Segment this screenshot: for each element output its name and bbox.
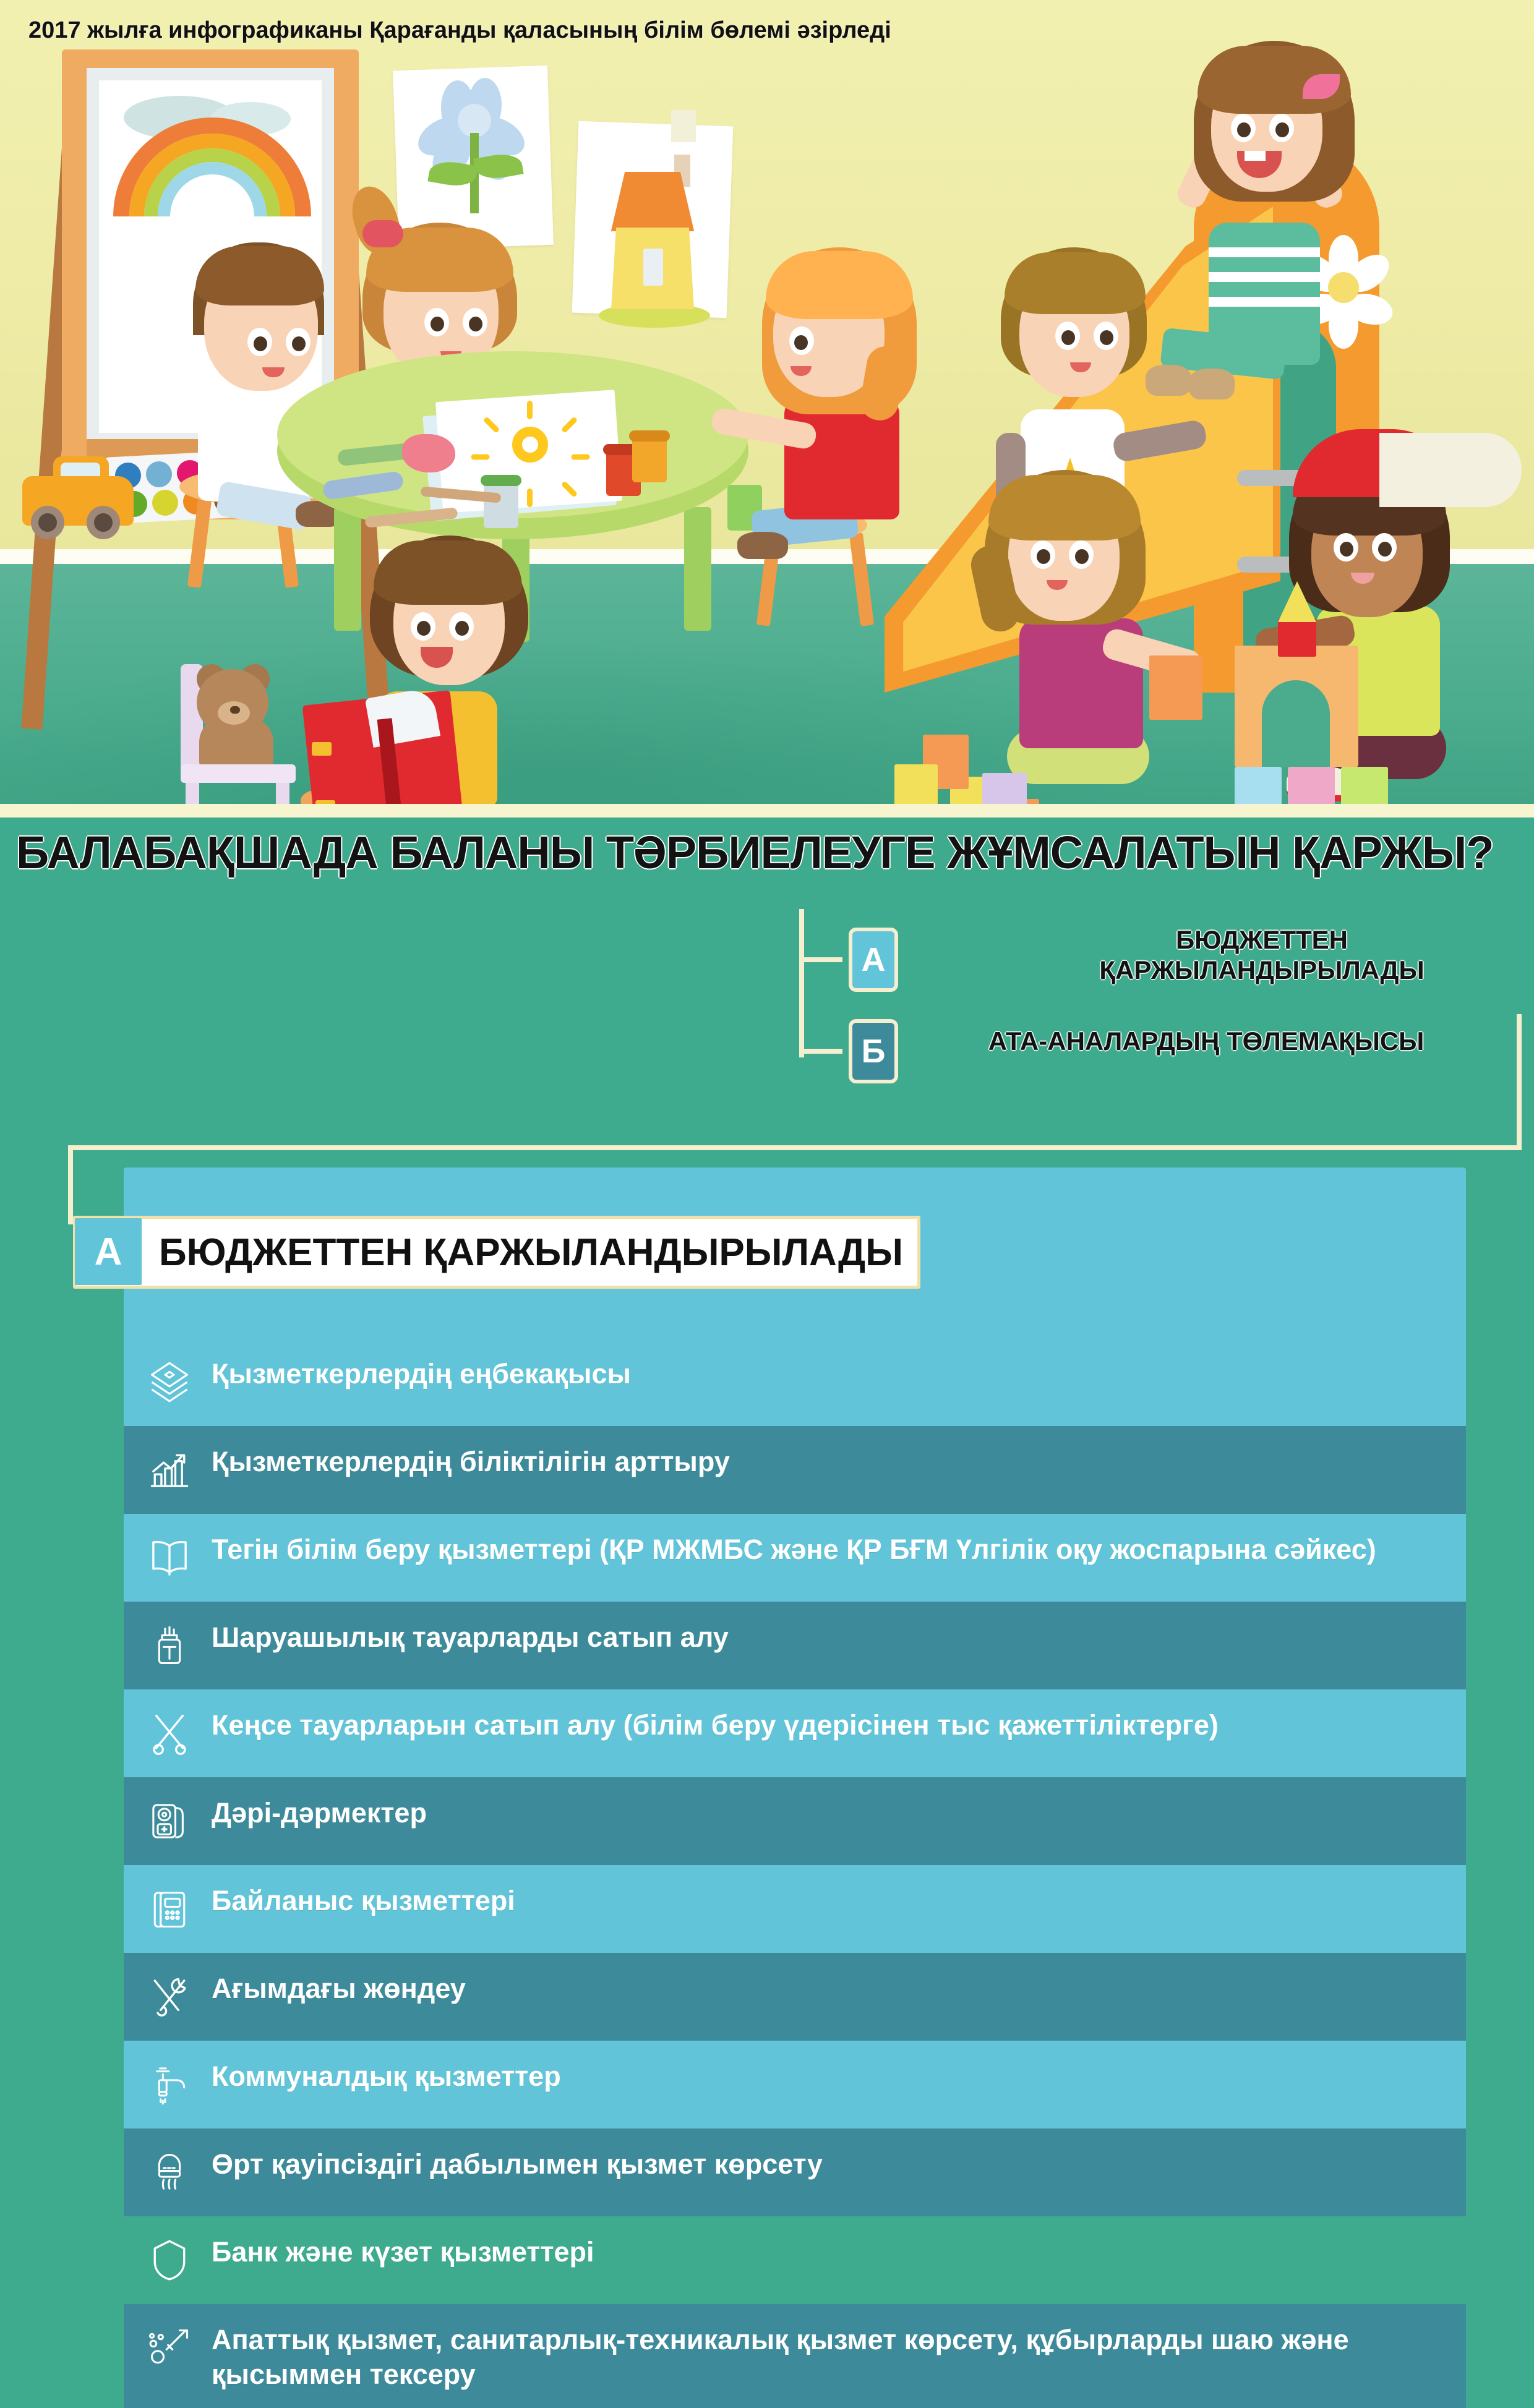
section-a-header: А БЮДЖЕТТЕН ҚАРЖЫЛАНДЫРЫЛАДЫ bbox=[73, 1216, 920, 1289]
pupil bbox=[469, 317, 482, 331]
legend-vertical-line bbox=[799, 909, 804, 1057]
legend-label-b: АТА-АНАЛАРДЫҢ ТӨЛЕМАҚЫСЫ bbox=[928, 1027, 1485, 1057]
section-a-heading: БЮДЖЕТТЕН ҚАРЖЫЛАНДЫРЫЛАДЫ bbox=[142, 1231, 903, 1274]
house-window bbox=[643, 249, 663, 286]
sun-drawing bbox=[512, 427, 548, 463]
list-item[interactable]: Байланыс қызметтері bbox=[124, 1865, 1466, 1953]
pupil bbox=[1037, 549, 1050, 564]
list-item[interactable]: Ағымдағы жөндеу bbox=[124, 1953, 1466, 2041]
clay-blob bbox=[402, 434, 455, 472]
shield-icon bbox=[140, 2232, 199, 2288]
list-item[interactable]: Коммуналдық қызметтер bbox=[124, 2041, 1466, 2128]
teddy-nose bbox=[230, 706, 240, 714]
book-clasp bbox=[312, 742, 332, 756]
hair-fringe bbox=[766, 251, 913, 319]
toy-block bbox=[1235, 767, 1282, 805]
legend-badge-a-letter: А bbox=[862, 941, 886, 979]
paint-jar bbox=[632, 437, 667, 482]
list-item[interactable]: Қызметкерлердің еңбекақысы bbox=[124, 1338, 1466, 1426]
list-item-label: Апаттық қызмет, санитарлық-техникалық қы… bbox=[212, 2320, 1447, 2392]
block-arch-opening bbox=[1262, 680, 1330, 767]
paint-dot bbox=[146, 461, 172, 487]
legend-badge-a[interactable]: А bbox=[849, 928, 898, 992]
pupil bbox=[1237, 122, 1251, 137]
pupil bbox=[431, 317, 444, 331]
shirt-stripe bbox=[1209, 297, 1320, 307]
list-item-label: Шаруашылық тауарларды сатып алу bbox=[212, 1618, 729, 1655]
legend-tick-a bbox=[799, 957, 842, 962]
shoe bbox=[737, 532, 788, 559]
list-item-label: Байланыс қызметтері bbox=[212, 1881, 515, 1918]
paint-dot bbox=[152, 490, 178, 516]
connector-vertical-left bbox=[68, 1145, 73, 1224]
list-item-label: Қызметкерлердің еңбекақысы bbox=[212, 1354, 631, 1391]
list-item[interactable]: Қызметкерлердің біліктілігін арттыру bbox=[124, 1426, 1466, 1514]
teeth bbox=[1245, 151, 1266, 161]
list-item[interactable]: Апаттық қызмет, санитарлық-техникалық қы… bbox=[124, 2304, 1466, 2408]
legend-label-a-line1: БЮДЖЕТТЕН bbox=[1064, 925, 1460, 955]
tools-repair-icon bbox=[140, 1969, 199, 2025]
shirt-stripe bbox=[1209, 272, 1320, 282]
first-aid-icon bbox=[140, 1793, 199, 1849]
list-item-label: Коммуналдық қызметтер bbox=[212, 2057, 561, 2094]
hair-fringe bbox=[1005, 252, 1146, 314]
shirt-stripe bbox=[1209, 247, 1320, 257]
list-item[interactable]: Дәрі-дәрмектер bbox=[124, 1777, 1466, 1865]
list-item[interactable]: Тегін білім беру қызметтері (ҚР МЖМБС жә… bbox=[124, 1514, 1466, 1602]
chair-seat bbox=[181, 764, 296, 783]
toy-block bbox=[1278, 618, 1316, 657]
paint-jar-lid bbox=[629, 430, 670, 442]
cleaning-supplies-icon bbox=[140, 1618, 199, 1673]
toy-block bbox=[1341, 767, 1388, 805]
legend-label-a: БЮДЖЕТТЕН ҚАРЖЫЛАНДЫРЫЛАДЫ bbox=[1064, 925, 1460, 985]
kindergarten-illustration bbox=[0, 0, 1534, 816]
list-item[interactable]: Шаруашылық тауарларды сатып алу bbox=[124, 1602, 1466, 1689]
fire-alarm-icon bbox=[140, 2145, 199, 2200]
section-a-badge-letter: А bbox=[95, 1230, 122, 1274]
pupil bbox=[1100, 330, 1113, 345]
pupil bbox=[254, 336, 267, 351]
section-a-item-list: Қызметкерлердің еңбекақысыҚызметкерлерді… bbox=[124, 1285, 1466, 2408]
title-divider-band bbox=[0, 804, 1534, 818]
daisy-petal bbox=[1329, 302, 1358, 349]
legend-badge-b-letter: Б bbox=[862, 1032, 886, 1070]
list-item-label: Банк және күзет қызметтері bbox=[212, 2232, 594, 2269]
pupil bbox=[455, 621, 469, 636]
cap-brim bbox=[1379, 433, 1522, 507]
water-jar bbox=[484, 482, 518, 528]
rainbow-drawing bbox=[113, 117, 311, 260]
hair-tie bbox=[362, 220, 403, 247]
list-item-label: Қызметкерлердің біліктілігін арттыру bbox=[212, 1442, 730, 1479]
list-item[interactable]: Өрт қауіпсіздігі дабылымен қызмет көрсет… bbox=[124, 2128, 1466, 2216]
connector-horizontal-top bbox=[68, 1145, 1522, 1150]
list-item-label: Кеңсе тауарларын сатып алу (білім беру ү… bbox=[212, 1706, 1219, 1743]
legend-label-a-line2: ҚАРЖЫЛАНДЫРЫЛАДЫ bbox=[1064, 955, 1460, 986]
shoe bbox=[1189, 369, 1235, 399]
daisy-center bbox=[1328, 272, 1359, 303]
page-title: БАЛАБАҚШАДА БАЛАНЫ ТӘРБИЕЛЕУГЕ ЖҰМСАЛАТЫ… bbox=[0, 826, 1494, 879]
flower-center bbox=[458, 104, 491, 137]
sun-ray bbox=[527, 401, 533, 419]
legend-group: А Б БЮДЖЕТТЕН ҚАРЖЫЛАНДЫРЫЛАДЫ АТА-АНАЛА… bbox=[792, 909, 1522, 1076]
pupil bbox=[1340, 542, 1353, 557]
open-book-icon bbox=[140, 1530, 199, 1586]
pupil bbox=[794, 335, 808, 350]
toy-car-wheel bbox=[87, 506, 120, 539]
shoe bbox=[1146, 365, 1191, 396]
pupil bbox=[292, 336, 306, 351]
credit-line: 2017 жылға инфографиканы Қарағанды қалас… bbox=[28, 17, 891, 44]
toy-block bbox=[1288, 767, 1335, 805]
list-item-label: Өрт қауіпсіздігі дабылымен қызмет көрсет… bbox=[212, 2145, 823, 2182]
money-stack-icon bbox=[140, 1354, 199, 1410]
water-jar-lid bbox=[481, 475, 521, 486]
pupil bbox=[1275, 122, 1289, 137]
section-a-badge[interactable]: А bbox=[75, 1218, 142, 1285]
pupil bbox=[1075, 549, 1089, 564]
connector-elbow-right bbox=[1447, 1014, 1522, 1150]
legend-badge-b[interactable]: Б bbox=[849, 1019, 898, 1083]
sun-ray bbox=[471, 455, 490, 460]
table-leg bbox=[684, 507, 711, 631]
list-item-label: Дәрі-дәрмектер bbox=[212, 1793, 427, 1830]
growth-chart-icon bbox=[140, 1442, 199, 1498]
legend-tick-b bbox=[799, 1049, 842, 1054]
paper-tape bbox=[671, 110, 696, 142]
scissors-pen-icon bbox=[140, 1706, 199, 1761]
pupil bbox=[1378, 542, 1392, 557]
sun-ray bbox=[527, 489, 533, 507]
faucet-icon bbox=[140, 2057, 199, 2112]
sun-ray bbox=[572, 455, 590, 460]
toy-block bbox=[1149, 655, 1202, 720]
pupil bbox=[417, 621, 431, 636]
hair-fringe bbox=[374, 540, 522, 605]
list-item[interactable]: Кеңсе тауарларын сатып алу (білім беру ү… bbox=[124, 1689, 1466, 1777]
list-item[interactable]: Банк және күзет қызметтері bbox=[124, 2216, 1466, 2304]
pupil bbox=[1061, 330, 1075, 345]
hair-fringe bbox=[195, 246, 324, 305]
list-item-label: Ағымдағы жөндеу bbox=[212, 1969, 466, 2006]
list-item-label: Тегін білім беру қызметтері (ҚР МЖМБС жә… bbox=[212, 1530, 1376, 1567]
toy-car-wheel bbox=[31, 506, 64, 539]
hair-fringe bbox=[988, 475, 1141, 540]
plumbing-wrench-icon bbox=[140, 2320, 199, 2376]
telephone-icon bbox=[140, 1881, 199, 1937]
main-title-bar: БАЛАБАҚШАДА БАЛАНЫ ТӘРБИЕЛЕУГЕ ЖҰМСАЛАТЫ… bbox=[0, 818, 1534, 887]
connector-vertical bbox=[1517, 1014, 1522, 1150]
table-leg bbox=[334, 507, 361, 631]
